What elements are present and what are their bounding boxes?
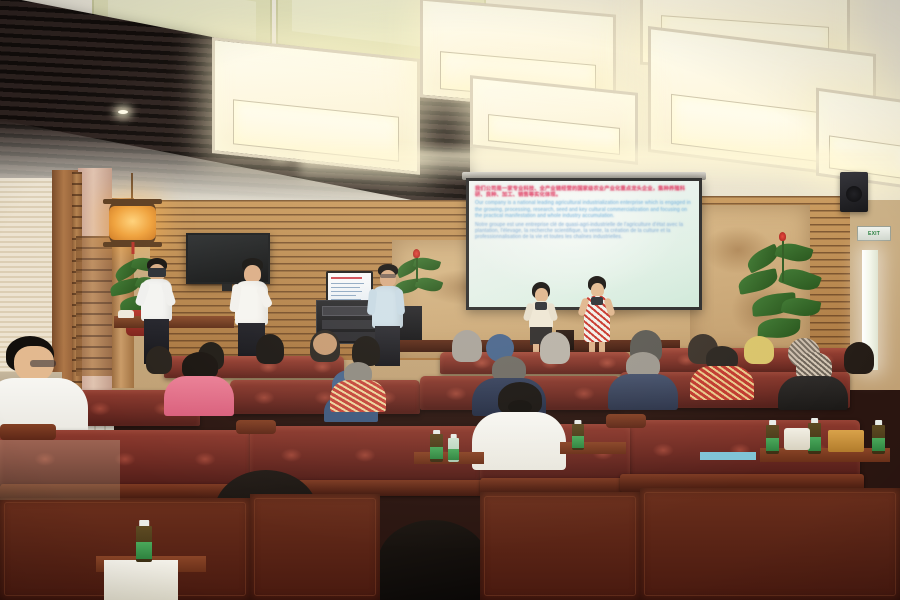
tea-bottle — [872, 420, 885, 454]
potted-plant — [736, 236, 832, 354]
attendee-floral-blouse — [330, 362, 386, 410]
slide-body-fr: Notre groupe est une entreprise clé de q… — [475, 222, 693, 241]
attendee-head — [378, 520, 488, 600]
gift-box — [828, 430, 864, 452]
slide-heading-cn: 我们公司是一家专业科技、全产业链经营的国家级农业产业化重点龙头企业，集种养殖科研… — [475, 186, 693, 198]
smartphone — [591, 297, 603, 305]
handout-document — [104, 560, 178, 600]
bench-back-panel — [480, 492, 640, 600]
slide-body-en: Our company is a national leading agricu… — [475, 200, 693, 219]
hanging-lantern — [109, 202, 156, 244]
tea-bottle — [572, 420, 584, 450]
teacup — [118, 310, 134, 318]
exit-sign-label: EXIT — [868, 231, 880, 237]
bench-back-panel — [640, 488, 900, 600]
hostess-right — [578, 276, 616, 360]
conference-room-photo: EXIT 我们公司是一家专业科技、全产业链经营的国家级农业产业化重点龙头企业，集… — [0, 0, 900, 600]
attendee-head — [844, 342, 874, 374]
monitor-screen — [328, 273, 371, 303]
bench-armrest — [236, 420, 276, 434]
bench-armrest — [0, 424, 56, 440]
eyeglasses — [380, 274, 396, 278]
attendee-white-shirt-right — [472, 382, 566, 468]
smartphone — [148, 268, 166, 277]
floor-area — [0, 440, 120, 500]
attendee-pink-shirt — [164, 352, 234, 414]
attendee-bald — [310, 330, 340, 362]
smartphone — [535, 302, 547, 310]
tea-bottle — [766, 420, 779, 454]
attendee-floral-blouse — [690, 346, 754, 398]
eyeglasses — [30, 360, 56, 367]
tea-bottle — [448, 434, 459, 462]
wall-speaker — [840, 172, 868, 212]
tea-bottle — [430, 430, 443, 462]
side-table — [760, 448, 890, 462]
side-table — [560, 442, 626, 454]
exit-sign: EXIT — [857, 226, 891, 241]
handout-document — [700, 452, 756, 460]
tea-bottle — [136, 520, 152, 562]
bench-back-panel — [250, 494, 380, 600]
tissue-box — [784, 428, 810, 450]
attendee-headscarf-patterned — [778, 352, 848, 408]
bench-armrest — [606, 414, 646, 428]
attendee-grey-hair — [608, 352, 678, 408]
downlight-icon — [118, 110, 128, 114]
attendee-head — [256, 334, 284, 364]
